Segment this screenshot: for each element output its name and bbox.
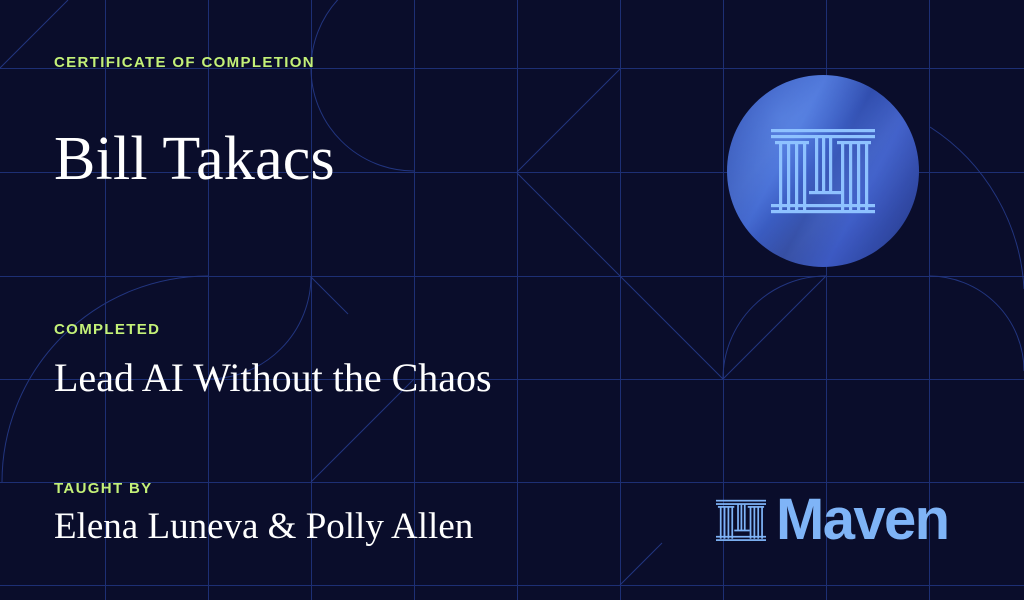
maven-badge xyxy=(727,75,919,267)
eyebrow-taught-by: TAUGHT BY xyxy=(54,481,153,496)
maven-wordmark-text: Maven xyxy=(776,491,949,549)
recipient-name: Bill Takacs xyxy=(54,128,335,190)
maven-pillars-icon xyxy=(716,494,766,546)
maven-logo-lockup: Maven xyxy=(716,491,949,549)
instructor-names: Elena Luneva & Polly Allen xyxy=(54,508,473,545)
certificate-card: CERTIFICATE OF COMPLETION Bill Takacs CO… xyxy=(0,0,1024,600)
eyebrow-completed: COMPLETED xyxy=(54,322,160,337)
maven-pillars-icon xyxy=(771,119,875,223)
course-title: Lead AI Without the Chaos xyxy=(54,358,492,398)
eyebrow-certificate-of-completion: CERTIFICATE OF COMPLETION xyxy=(54,55,315,70)
